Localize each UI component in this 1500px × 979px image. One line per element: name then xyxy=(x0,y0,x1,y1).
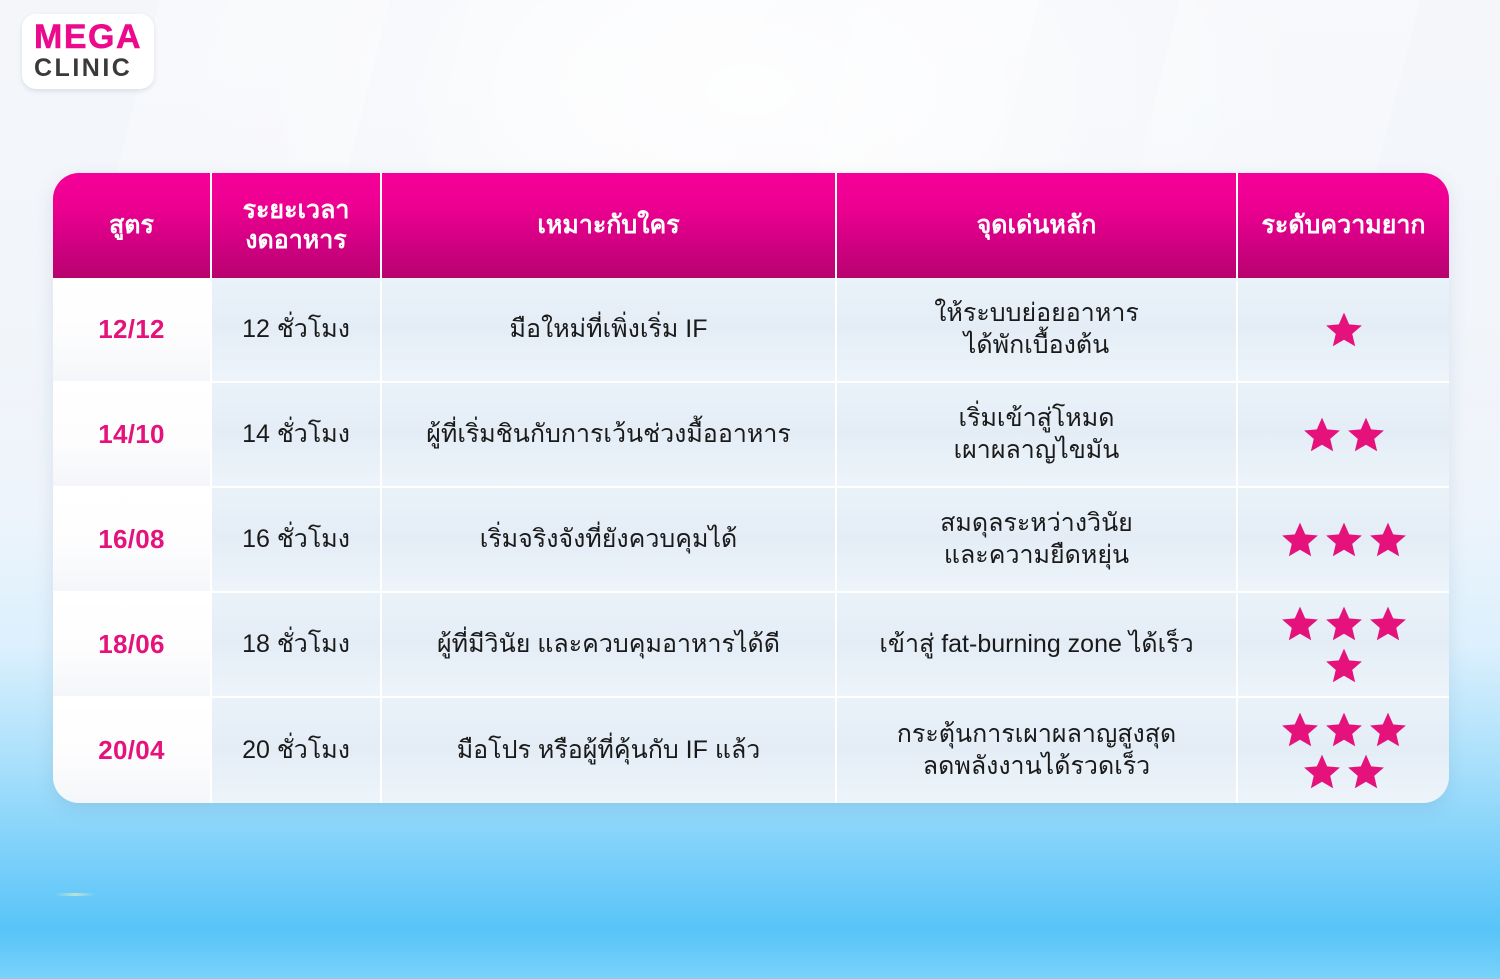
star-icon xyxy=(1280,520,1320,560)
cell-audience: ผู้ที่เริ่มชินกับการเว้นช่วงมื้ออาหาร xyxy=(382,383,837,488)
highlight-text-line: เข้าสู่ fat-burning zone ได้เร็ว xyxy=(879,629,1193,660)
cell-difficulty xyxy=(1238,698,1449,803)
difficulty-rating xyxy=(1264,710,1424,792)
logo-clinic-text: CLINIC xyxy=(34,56,142,81)
audience-text: ผู้ที่เริ่มชินกับการเว้นช่วงมื้ออาหาร xyxy=(426,419,791,450)
star-icon xyxy=(1280,604,1320,644)
audience-text-line: เริ่มจริงจังที่ยังควบคุมได้ xyxy=(480,524,738,555)
table-header-cell-difficulty: ระดับความยาก xyxy=(1238,173,1449,278)
duration-text-line: 18 ชั่วโมง xyxy=(242,629,350,660)
cell-duration: 20 ชั่วโมง xyxy=(212,698,382,803)
star-icon xyxy=(1280,710,1320,750)
cell-difficulty xyxy=(1238,593,1449,698)
background-wisp xyxy=(55,893,95,896)
difficulty-rating xyxy=(1302,415,1386,455)
difficulty-rating xyxy=(1264,604,1424,686)
table-header-label-line: เหมาะกับใคร xyxy=(537,211,679,241)
table-header-label-line: สูตร xyxy=(109,211,154,241)
highlight-text: เริ่มเข้าสู่โหมดเผาผลาญไขมัน xyxy=(954,403,1120,466)
star-icon xyxy=(1302,752,1342,792)
formula-text: 16/08 xyxy=(98,523,165,556)
cell-difficulty xyxy=(1238,488,1449,593)
audience-text: ผู้ที่มีวินัย และควบคุมอาหารได้ดี xyxy=(437,629,780,660)
formula-text-line: 12/12 xyxy=(98,313,165,346)
cell-formula: 18/06 xyxy=(53,593,212,698)
cell-audience: ผู้ที่มีวินัย และควบคุมอาหารได้ดี xyxy=(382,593,837,698)
table-header-label: สูตร xyxy=(109,211,154,241)
table-row: 12/1212 ชั่วโมงมือใหม่ที่เพิ่งเริ่ม IFให… xyxy=(53,278,1449,383)
table-header-label-line: งดอาหาร xyxy=(243,226,350,256)
audience-text-line: มือใหม่ที่เพิ่งเริ่ม IF xyxy=(510,314,708,345)
logo-mega-text: MEGA xyxy=(34,20,142,54)
table-header-label-line: ระดับความยาก xyxy=(1261,211,1425,241)
duration-text-line: 12 ชั่วโมง xyxy=(242,314,350,345)
formula-text: 20/04 xyxy=(98,734,165,767)
cell-difficulty xyxy=(1238,383,1449,488)
table-row: 14/1014 ชั่วโมงผู้ที่เริ่มชินกับการเว้นช… xyxy=(53,383,1449,488)
highlight-text-line: กระตุ้นการเผาผลาญสูงสุด xyxy=(897,719,1176,750)
table-row: 16/0816 ชั่วโมงเริ่มจริงจังที่ยังควบคุมไ… xyxy=(53,488,1449,593)
cell-formula: 14/10 xyxy=(53,383,212,488)
table-row: 18/0618 ชั่วโมงผู้ที่มีวินัย และควบคุมอา… xyxy=(53,593,1449,698)
duration-text-line: 20 ชั่วโมง xyxy=(242,735,350,766)
star-icon xyxy=(1324,710,1364,750)
audience-text: เริ่มจริงจังที่ยังควบคุมได้ xyxy=(480,524,738,555)
cell-highlight: ให้ระบบย่อยอาหารได้พักเบื้องต้น xyxy=(837,278,1238,383)
star-icon xyxy=(1324,520,1364,560)
highlight-text: กระตุ้นการเผาผลาญสูงสุดลดพลังงานได้รวดเร… xyxy=(897,719,1176,782)
audience-text-line: มือโปร หรือผู้ที่คุ้นกับ IF แล้ว xyxy=(457,735,761,766)
highlight-text: สมดุลระหว่างวินัยและความยืดหยุ่น xyxy=(940,508,1133,571)
duration-text: 12 ชั่วโมง xyxy=(242,314,350,345)
duration-text-line: 14 ชั่วโมง xyxy=(242,419,350,450)
brand-logo: MEGA CLINIC xyxy=(22,14,154,89)
formula-text: 12/12 xyxy=(98,313,165,346)
star-icon xyxy=(1368,710,1408,750)
table-header-cell-formula: สูตร xyxy=(53,173,212,278)
table-header-cell-highlight: จุดเด่นหลัก xyxy=(837,173,1238,278)
duration-text: 14 ชั่วโมง xyxy=(242,419,350,450)
table-header-cell-duration: ระยะเวลางดอาหาร xyxy=(212,173,382,278)
formula-text-line: 16/08 xyxy=(98,523,165,556)
formula-text-line: 14/10 xyxy=(98,418,165,451)
table-body: 12/1212 ชั่วโมงมือใหม่ที่เพิ่งเริ่ม IFให… xyxy=(53,278,1449,803)
star-icon xyxy=(1346,752,1386,792)
cell-highlight: สมดุลระหว่างวินัยและความยืดหยุ่น xyxy=(837,488,1238,593)
star-icon xyxy=(1368,520,1408,560)
table-row: 20/0420 ชั่วโมงมือโปร หรือผู้ที่คุ้นกับ … xyxy=(53,698,1449,803)
highlight-text-line: เริ่มเข้าสู่โหมด xyxy=(954,403,1120,434)
duration-text: 20 ชั่วโมง xyxy=(242,735,350,766)
star-icon xyxy=(1324,310,1364,350)
audience-text: มือโปร หรือผู้ที่คุ้นกับ IF แล้ว xyxy=(457,735,761,766)
highlight-text-line: สมดุลระหว่างวินัย xyxy=(940,508,1133,539)
cell-formula: 20/04 xyxy=(53,698,212,803)
audience-text-line: ผู้ที่มีวินัย และควบคุมอาหารได้ดี xyxy=(437,629,780,660)
table-header-cell-audience: เหมาะกับใคร xyxy=(382,173,837,278)
cell-duration: 12 ชั่วโมง xyxy=(212,278,382,383)
cell-highlight: กระตุ้นการเผาผลาญสูงสุดลดพลังงานได้รวดเร… xyxy=(837,698,1238,803)
difficulty-rating xyxy=(1280,520,1408,560)
star-icon xyxy=(1302,415,1342,455)
cell-difficulty xyxy=(1238,278,1449,383)
difficulty-rating xyxy=(1324,310,1364,350)
duration-text: 18 ชั่วโมง xyxy=(242,629,350,660)
table-header-label-line: ระยะเวลา xyxy=(243,196,350,226)
table-header-row: สูตรระยะเวลางดอาหารเหมาะกับใครจุดเด่นหลั… xyxy=(53,173,1449,278)
cell-audience: มือใหม่ที่เพิ่งเริ่ม IF xyxy=(382,278,837,383)
star-icon xyxy=(1346,415,1386,455)
cell-duration: 16 ชั่วโมง xyxy=(212,488,382,593)
table-header-label: ระดับความยาก xyxy=(1261,211,1425,241)
highlight-text-line: ลดพลังงานได้รวดเร็ว xyxy=(897,751,1176,782)
duration-text-line: 16 ชั่วโมง xyxy=(242,524,350,555)
star-icon xyxy=(1368,604,1408,644)
star-icon xyxy=(1324,604,1364,644)
highlight-text: เข้าสู่ fat-burning zone ได้เร็ว xyxy=(879,629,1193,660)
table-header-label: เหมาะกับใคร xyxy=(537,211,679,241)
table-header-label: ระยะเวลางดอาหาร xyxy=(243,196,350,255)
highlight-text-line: เผาผลาญไขมัน xyxy=(954,435,1120,466)
cell-audience: เริ่มจริงจังที่ยังควบคุมได้ xyxy=(382,488,837,593)
duration-text: 16 ชั่วโมง xyxy=(242,524,350,555)
audience-text: มือใหม่ที่เพิ่งเริ่ม IF xyxy=(510,314,708,345)
highlight-text-line: และความยืดหยุ่น xyxy=(940,540,1133,571)
highlight-text-line: ได้พักเบื้องต้น xyxy=(934,330,1139,361)
cell-highlight: เข้าสู่ fat-burning zone ได้เร็ว xyxy=(837,593,1238,698)
cell-duration: 18 ชั่วโมง xyxy=(212,593,382,698)
highlight-text-line: ให้ระบบย่อยอาหาร xyxy=(934,298,1139,329)
highlight-text: ให้ระบบย่อยอาหารได้พักเบื้องต้น xyxy=(934,298,1139,361)
cell-formula: 12/12 xyxy=(53,278,212,383)
formula-text: 18/06 xyxy=(98,628,165,661)
comparison-table: สูตรระยะเวลางดอาหารเหมาะกับใครจุดเด่นหลั… xyxy=(53,173,1449,803)
cell-formula: 16/08 xyxy=(53,488,212,593)
cell-audience: มือโปร หรือผู้ที่คุ้นกับ IF แล้ว xyxy=(382,698,837,803)
table-header-label: จุดเด่นหลัก xyxy=(977,211,1097,241)
formula-text-line: 20/04 xyxy=(98,734,165,767)
table-header-label-line: จุดเด่นหลัก xyxy=(977,211,1097,241)
cell-highlight: เริ่มเข้าสู่โหมดเผาผลาญไขมัน xyxy=(837,383,1238,488)
cell-duration: 14 ชั่วโมง xyxy=(212,383,382,488)
formula-text: 14/10 xyxy=(98,418,165,451)
star-icon xyxy=(1324,646,1364,686)
audience-text-line: ผู้ที่เริ่มชินกับการเว้นช่วงมื้ออาหาร xyxy=(426,419,791,450)
formula-text-line: 18/06 xyxy=(98,628,165,661)
